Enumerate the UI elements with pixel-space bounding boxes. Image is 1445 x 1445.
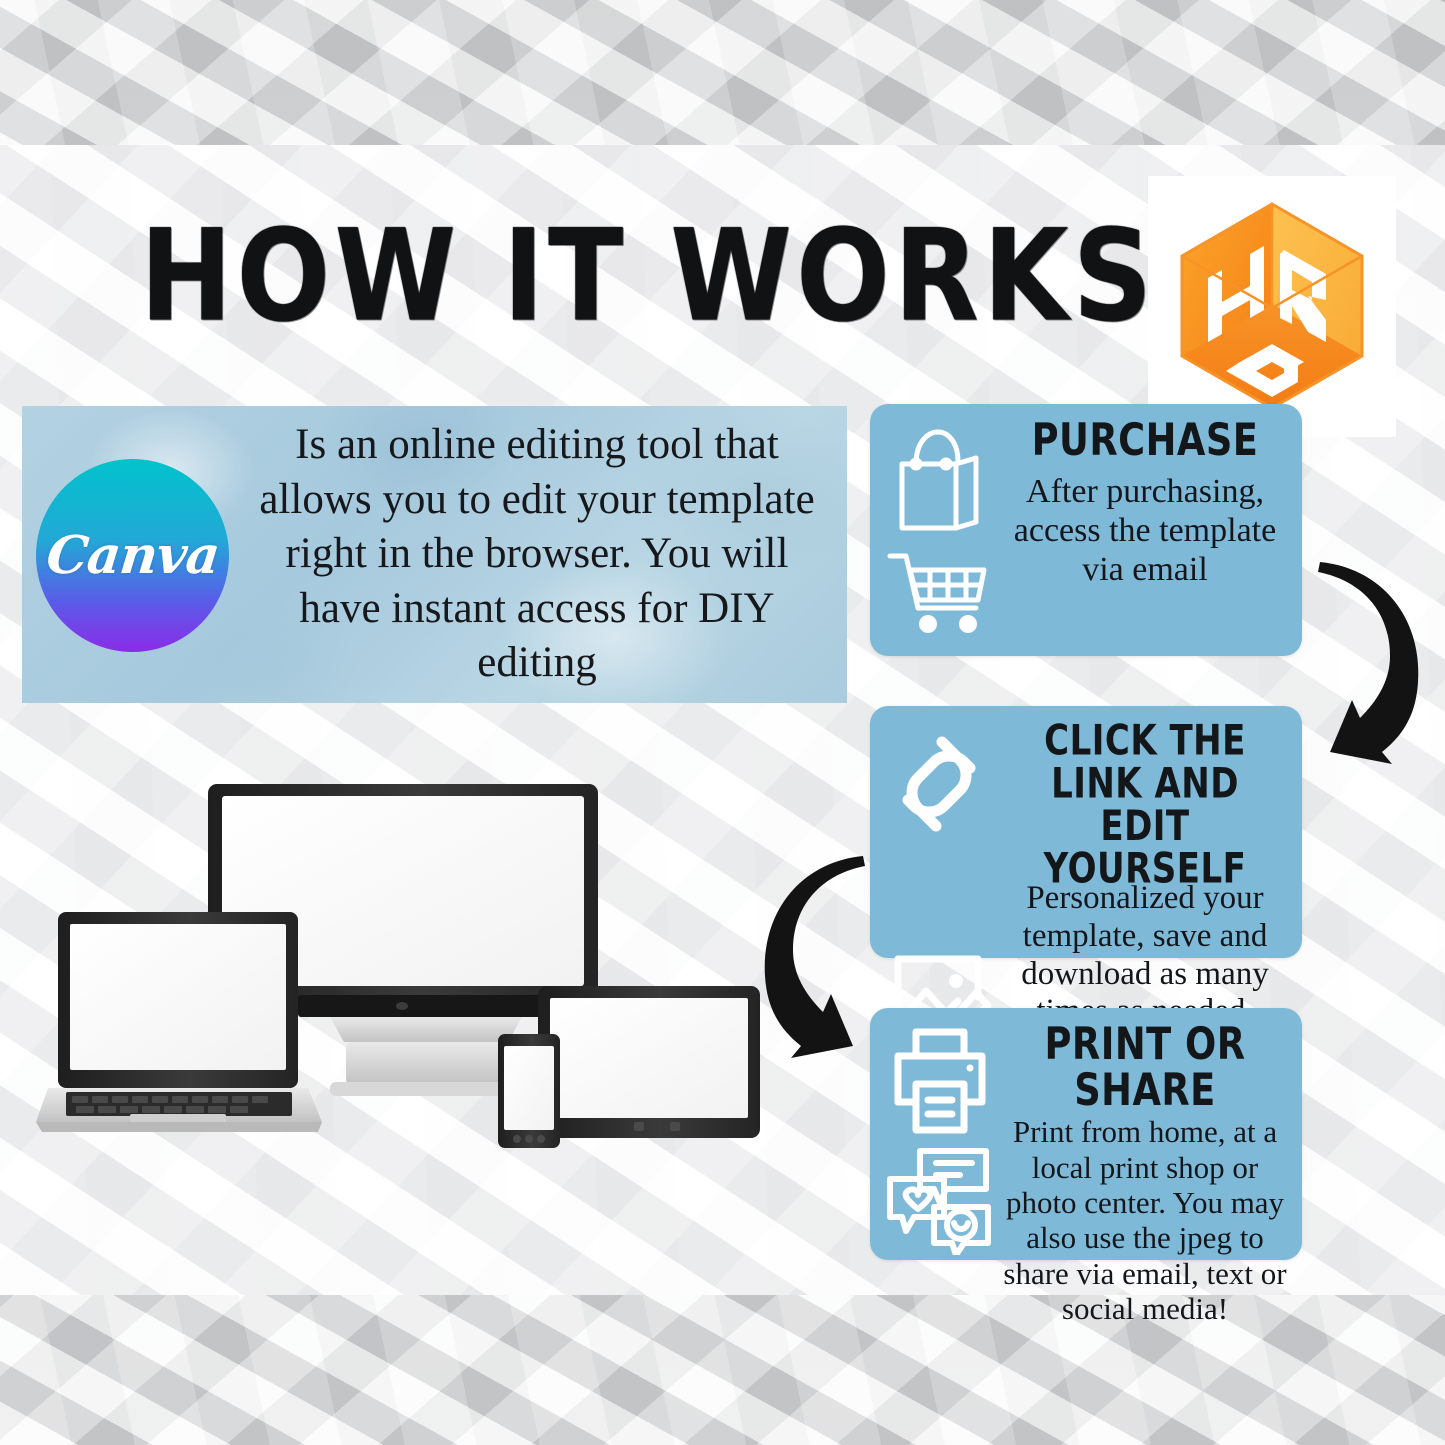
devices-icon [30,770,770,1170]
arrow-purchase-to-edit [1290,540,1440,775]
click-edit-title: CLICK THE LINK AND EDIT YOURSELF [1010,720,1280,891]
canva-description: Is an online editing tool that allows yo… [247,418,827,691]
click-edit-body: CLICK THE LINK AND EDIT YOURSELF Persona… [998,720,1292,1031]
step-card-purchase[interactable]: PURCHASE After purchasing, access the te… [870,404,1302,656]
hrg-cube-icon [1164,192,1380,420]
step-card-click-edit[interactable]: CLICK THE LINK AND EDIT YOURSELF Persona… [870,706,1302,958]
infographic-canvas: HOW IT WORKS [0,0,1445,1445]
purchase-icons [884,418,996,642]
purchase-description: After purchasing, access the template vi… [998,473,1292,589]
link-chain-icon [884,720,996,944]
click-edit-icons [884,720,996,944]
printer-icon [884,1022,996,1140]
canva-logo-circle: Canva [36,459,229,652]
chat-bubbles-icon [884,1145,996,1255]
canva-brand-label: Canva [43,525,221,586]
device-mockup [30,770,770,1170]
print-share-description: Print from home, at a local print shop o… [998,1114,1292,1326]
print-share-body: PRINT OR SHARE Print from home, at a loc… [998,1022,1292,1326]
curved-arrow-down-left-icon [1290,540,1440,775]
purchase-title: PURCHASE [1010,418,1280,464]
shopping-bag-icon [884,418,996,642]
canva-info-panel: Canva Is an online editing tool that all… [22,406,847,703]
purchase-body: PURCHASE After purchasing, access the te… [998,418,1292,589]
hrg-logo [1148,176,1396,437]
print-share-icons [884,1022,996,1246]
page-title: HOW IT WORKS [140,212,924,339]
step-card-print-share[interactable]: PRINT OR SHARE Print from home, at a loc… [870,1008,1302,1260]
print-share-title: PRINT OR SHARE [1010,1022,1280,1114]
